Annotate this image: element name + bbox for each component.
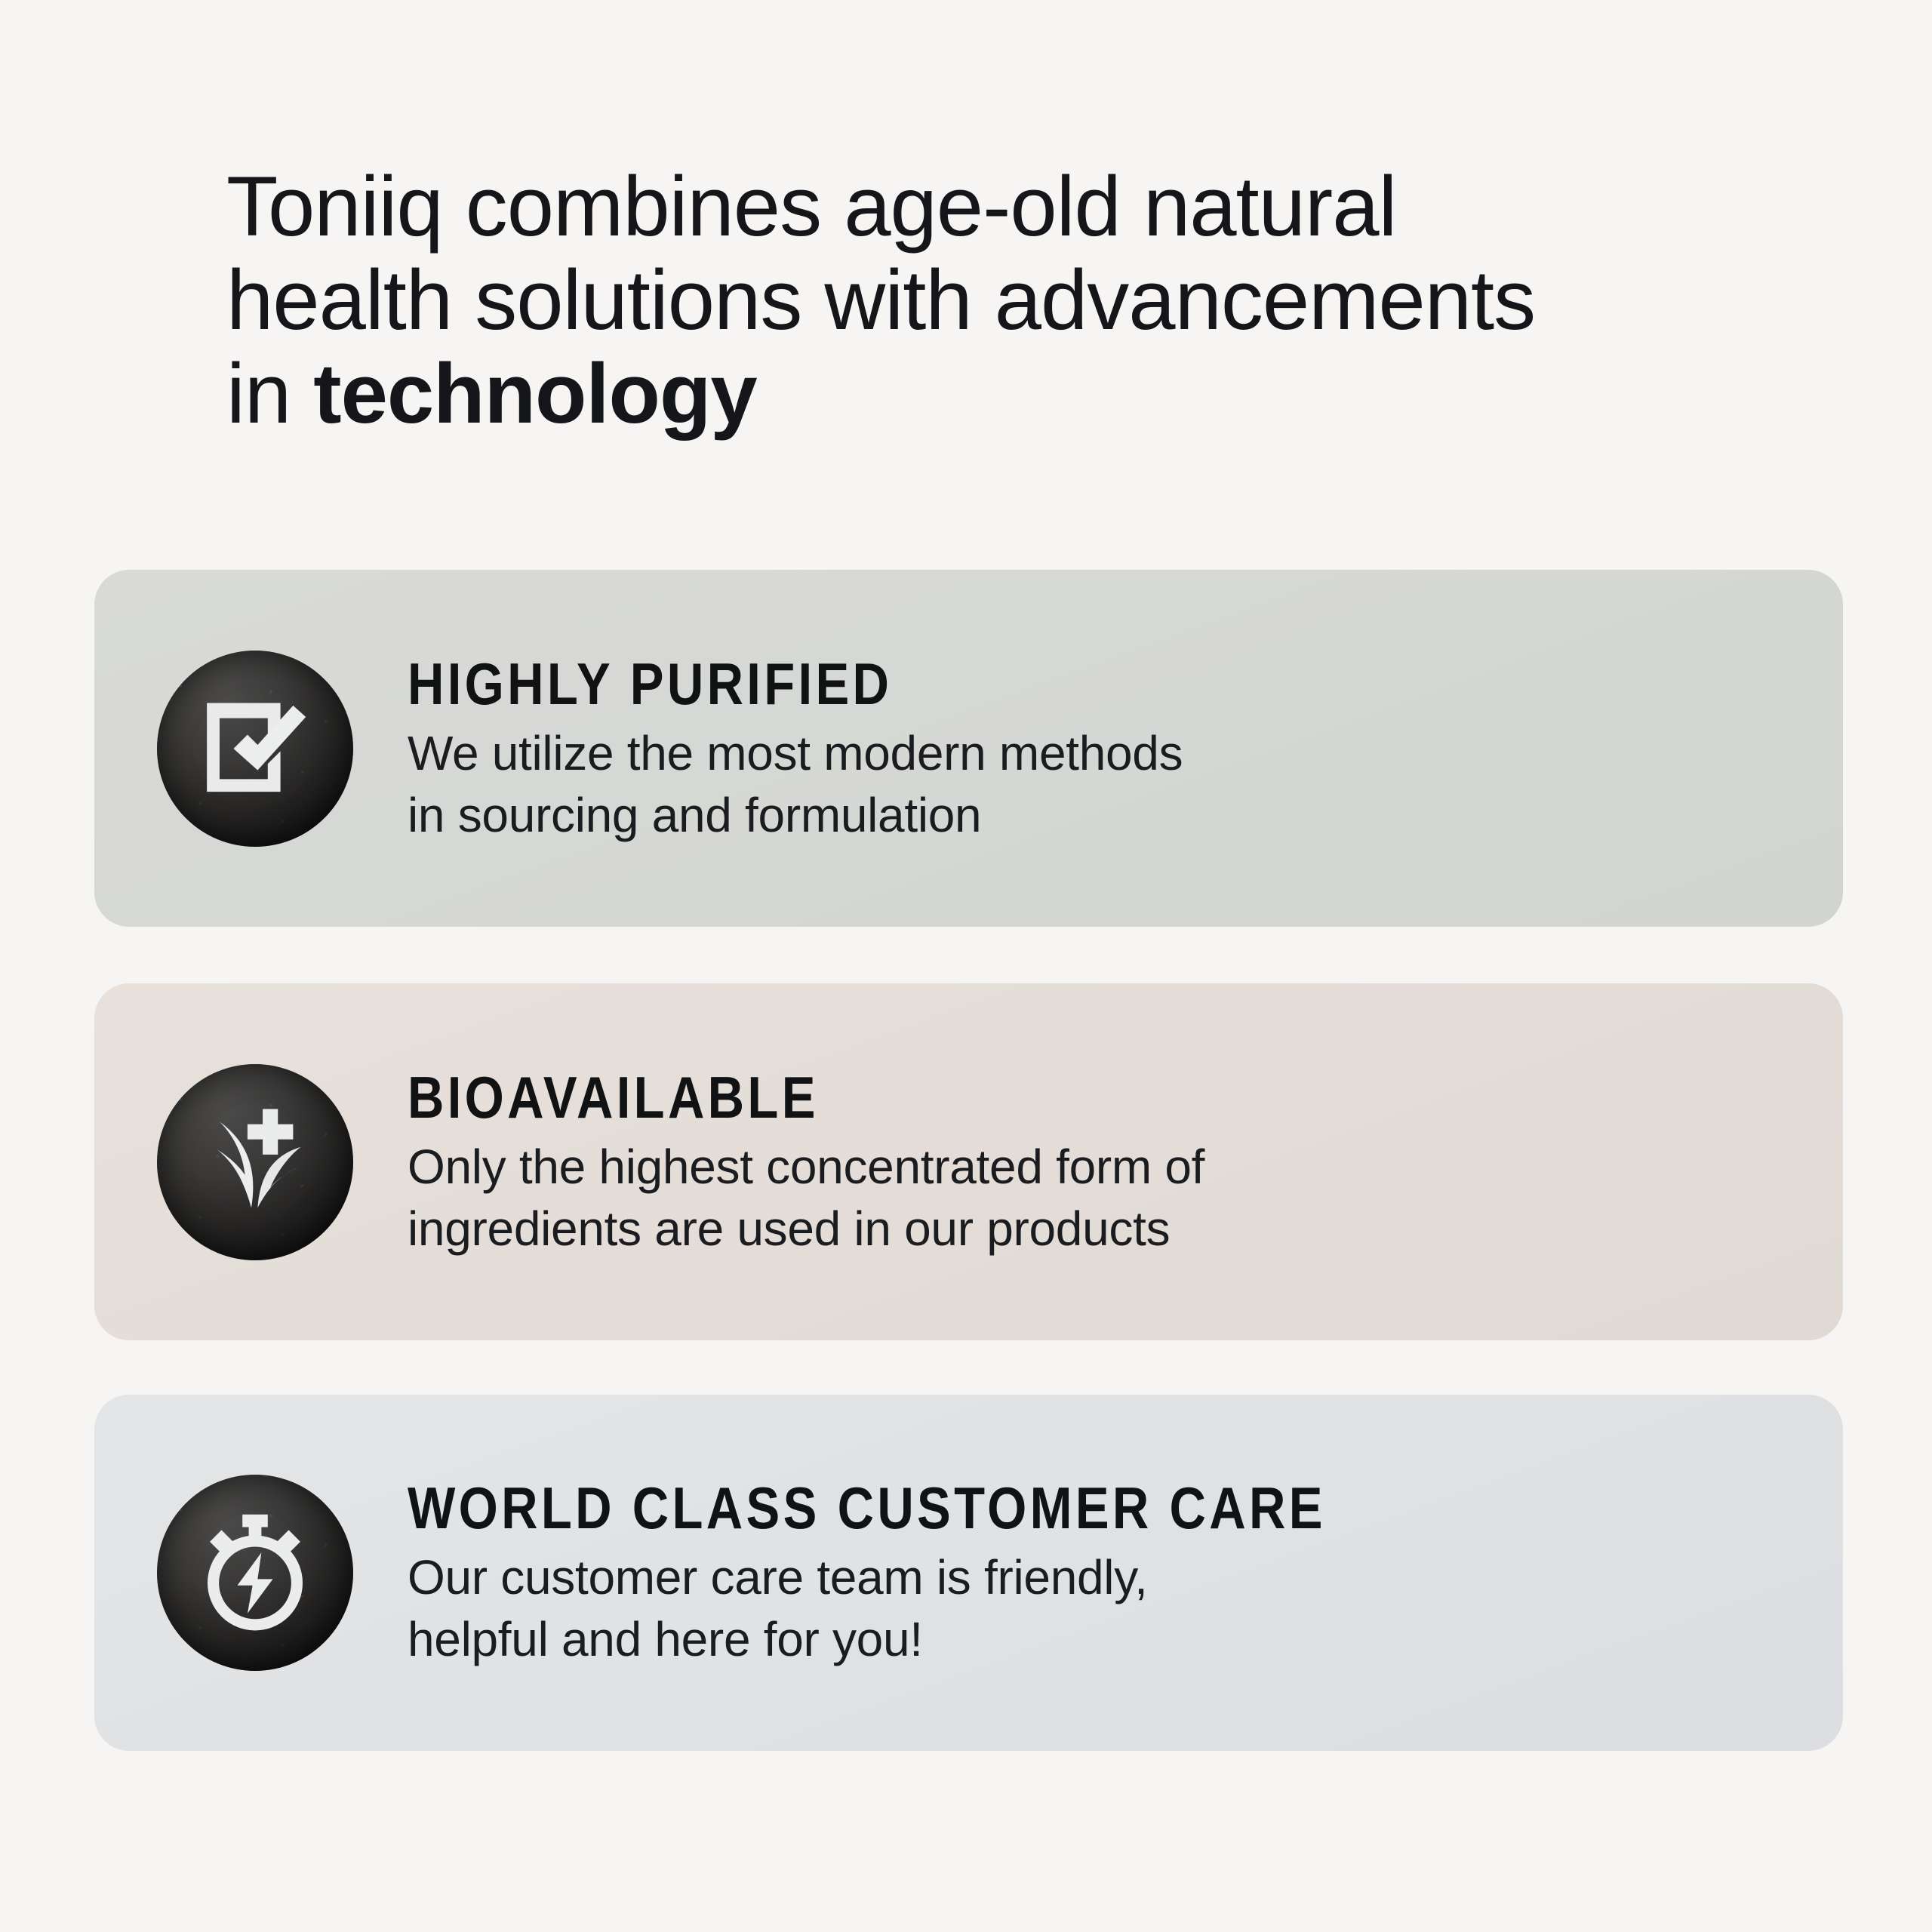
headline-line-2: health solutions with advancements <box>226 254 1721 347</box>
card-title: HIGHLY PURIFIED <box>408 651 1603 716</box>
headline-line-1: Toniiq combines age-old natural <box>226 160 1721 254</box>
feature-card-world-class-customer-care[interactable]: WORLD CLASS CUSTOMER CARE Our customer c… <box>94 1395 1843 1751</box>
feature-card-bioavailable[interactable]: BIOAVAILABLE Only the highest concentrat… <box>94 983 1843 1340</box>
page-headline: Toniiq combines age-old natural health s… <box>226 160 1721 441</box>
card-text-block: WORLD CLASS CUSTOMER CARE Our customer c… <box>408 1475 1843 1670</box>
headline-line-3-prefix: in <box>226 346 313 441</box>
card-description-line-1: Only the highest concentrated form of <box>408 1136 1798 1198</box>
card-text-block: HIGHLY PURIFIED We utilize the most mode… <box>408 651 1843 846</box>
headline-emphasis: technology <box>313 346 756 441</box>
card-description-line-2: helpful and here for you! <box>408 1608 1798 1670</box>
feature-card-list: HIGHLY PURIFIED We utilize the most mode… <box>94 570 1843 1751</box>
feature-card-highly-purified[interactable]: HIGHLY PURIFIED We utilize the most mode… <box>94 570 1843 927</box>
leaf-plus-icon <box>157 1064 353 1260</box>
card-description: Only the highest concentrated form of in… <box>408 1136 1798 1260</box>
card-description-line-2: in sourcing and formulation <box>408 784 1798 846</box>
card-description: We utilize the most modern methods in so… <box>408 722 1798 846</box>
card-description-line-1: Our customer care team is friendly, <box>408 1546 1798 1608</box>
card-text-block: BIOAVAILABLE Only the highest concentrat… <box>408 1065 1843 1260</box>
card-description-line-1: We utilize the most modern methods <box>408 722 1798 784</box>
headline-line-3: in technology <box>226 347 1721 441</box>
card-description-line-2: ingredients are used in our products <box>408 1198 1798 1260</box>
card-description: Our customer care team is friendly, help… <box>408 1546 1798 1670</box>
card-title: WORLD CLASS CUSTOMER CARE <box>408 1475 1603 1540</box>
stopwatch-bolt-icon <box>157 1475 353 1671</box>
card-title: BIOAVAILABLE <box>408 1065 1603 1130</box>
checkbox-check-icon <box>157 651 353 847</box>
promo-page: Toniiq combines age-old natural health s… <box>0 0 1932 1932</box>
